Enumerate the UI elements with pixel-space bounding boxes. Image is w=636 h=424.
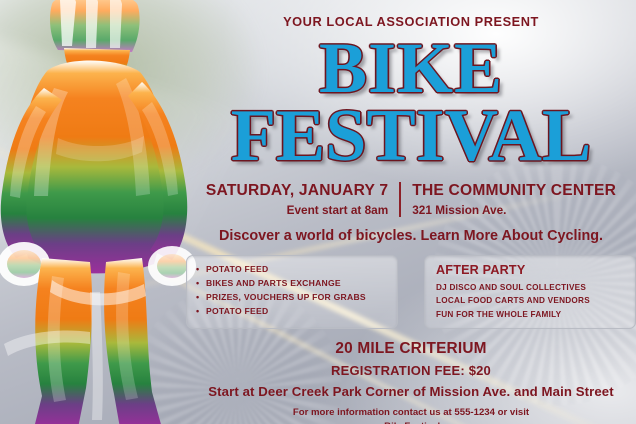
list-item: LOCAL FOOD CARTS AND VENDORS bbox=[436, 294, 626, 307]
list-item: POTATO FEED bbox=[196, 263, 389, 277]
features-box: POTATO FEED BIKES AND PARTS EXCHANGE PRI… bbox=[186, 255, 398, 329]
poster-title: BIKE FESTIVAL bbox=[231, 35, 592, 171]
race-start-location: Start at Deer Creek Park Corner of Missi… bbox=[186, 384, 636, 399]
list-item: FUN FOR THE WHOLE FAMILY bbox=[436, 308, 626, 321]
list-item: BIKES AND PARTS EXCHANGE bbox=[196, 277, 389, 291]
after-party-title: AFTER PARTY bbox=[436, 263, 626, 277]
venue-address: 321 Mission Ave. bbox=[412, 203, 616, 217]
poster-content: YOUR LOCAL ASSOCIATION PRESENT BIKE FEST… bbox=[186, 0, 636, 424]
list-item: POTATO FEED bbox=[196, 305, 389, 319]
list-item: PRIZES, VOUCHERS UP FOR GRABS bbox=[196, 291, 389, 305]
date-block: SATURDAY, JANUARY 7 Event start at 8am bbox=[206, 182, 399, 217]
features-list: POTATO FEED BIKES AND PARTS EXCHANGE PRI… bbox=[196, 263, 389, 319]
event-start-time: Event start at 8am bbox=[206, 203, 388, 217]
footer-contact: For more information contact us at 555-1… bbox=[186, 406, 636, 424]
race-name: 20 MILE CRITERIUM bbox=[186, 340, 636, 358]
footer-line-2: www.BikeFestival.com bbox=[186, 420, 636, 424]
title-line-1: BIKE bbox=[231, 35, 592, 102]
venue-name: THE COMMUNITY CENTER bbox=[412, 182, 616, 200]
list-item: DJ DISCO AND SOUL COLLECTIVES bbox=[436, 281, 626, 294]
after-party-box: AFTER PARTY DJ DISCO AND SOUL COLLECTIVE… bbox=[424, 255, 636, 329]
cyclist-silhouette-graphic bbox=[0, 0, 214, 424]
title-line-2: FESTIVAL bbox=[231, 102, 592, 171]
date-venue-block: SATURDAY, JANUARY 7 Event start at 8am T… bbox=[206, 182, 616, 217]
registration-fee: REGISTRATION FEE: $20 bbox=[186, 363, 636, 378]
tagline: Discover a world of bicycles. Learn More… bbox=[219, 228, 603, 244]
venue-block: THE COMMUNITY CENTER 321 Mission Ave. bbox=[399, 182, 616, 217]
event-date: SATURDAY, JANUARY 7 bbox=[206, 182, 388, 200]
race-info-block: 20 MILE CRITERIUM REGISTRATION FEE: $20 … bbox=[186, 340, 636, 424]
presenter-line: YOUR LOCAL ASSOCIATION PRESENT bbox=[283, 14, 539, 29]
info-boxes: POTATO FEED BIKES AND PARTS EXCHANGE PRI… bbox=[186, 255, 636, 329]
after-party-list: DJ DISCO AND SOUL COLLECTIVES LOCAL FOOD… bbox=[436, 281, 626, 321]
footer-line-1: For more information contact us at 555-1… bbox=[186, 406, 636, 420]
bike-festival-poster: YOUR LOCAL ASSOCIATION PRESENT BIKE FEST… bbox=[0, 0, 636, 424]
